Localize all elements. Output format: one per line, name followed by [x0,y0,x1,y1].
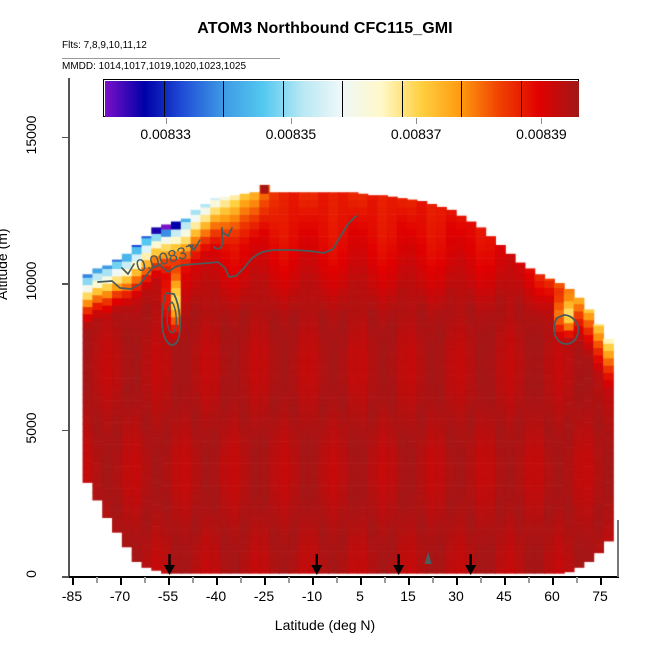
flight-marker-arrow [393,554,404,575]
contour-line [167,302,176,333]
contour-line [122,264,134,274]
contour-line [98,216,356,289]
contour-line [222,228,232,236]
contour-line [162,293,180,345]
contour-line [554,315,578,344]
flight-marker-arrow [311,554,322,575]
secondary-marker-arrow [425,552,432,564]
plot-figure: ATOM3 Northbound CFC115_GMI Flts: 7,8,9,… [0,0,650,650]
flight-marker-arrow [465,554,476,575]
flight-marker-arrow [164,554,175,575]
contour-overlay: 0.00837 [0,0,650,650]
contour-line [214,228,222,249]
